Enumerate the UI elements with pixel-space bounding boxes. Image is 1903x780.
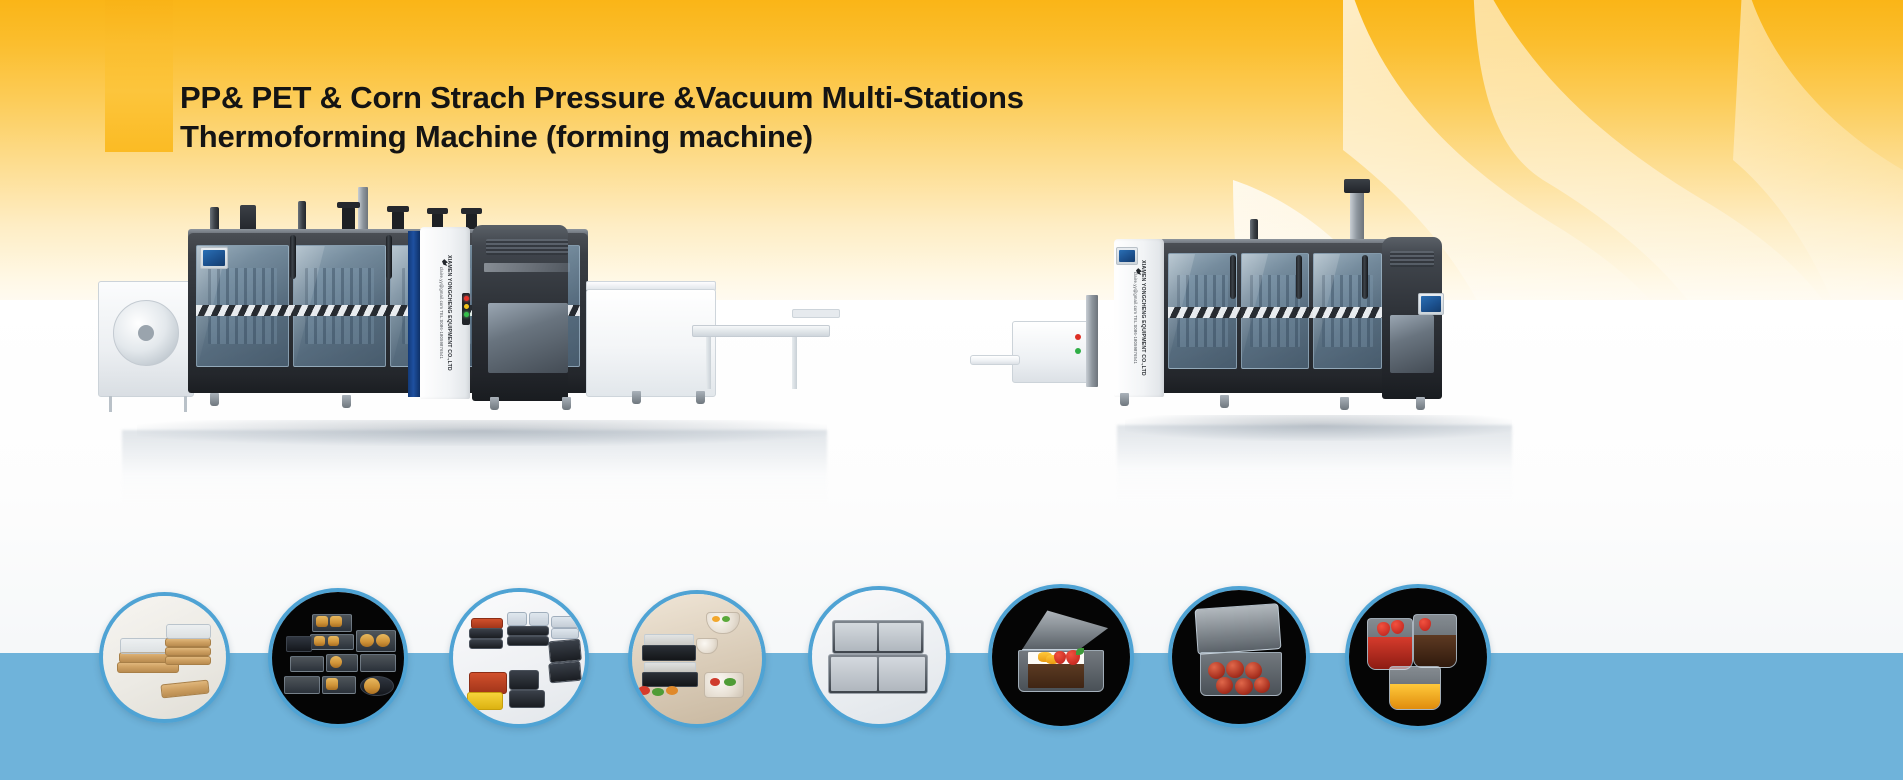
multi-station-thermoforming-machine-left: XIAMEN YONGCHENG EQUIPMENT CO.,LTD clair… [92, 185, 842, 430]
food-garnish [710, 678, 720, 686]
machine-floor-reflection [1117, 425, 1512, 503]
meal-tray [642, 672, 698, 687]
product-circle-bakery-pastry-trays[interactable] [268, 588, 408, 728]
black-clamshell [548, 661, 582, 684]
cup-contents-berry [1368, 637, 1412, 669]
product-circle-lychee-clamshell[interactable] [1168, 586, 1310, 728]
pastry-item [314, 636, 325, 646]
output-conveyor [692, 325, 830, 337]
pastry-item [326, 678, 338, 690]
pastry-tray [360, 654, 396, 672]
vertical-mast [1350, 185, 1364, 243]
conveyor-leg [706, 337, 711, 389]
machine-caster [1220, 395, 1229, 408]
brand-company-name: XIAMEN YONGCHENG EQUIPMENT CO.,LTD [1139, 260, 1146, 376]
food-garnish [652, 688, 664, 696]
indicator-light-yellow [464, 304, 469, 309]
product-circle-black-red-containers[interactable] [449, 588, 589, 728]
pastry-item [330, 616, 342, 627]
hmi-touch-panel-secondary[interactable] [1418, 293, 1444, 315]
indicator-light-tower [462, 293, 470, 325]
machine-brand-text: XIAMEN YONGCHENG EQUIPMENT CO.,LTD clair… [1132, 260, 1146, 376]
film-unwinder-unit [98, 281, 194, 397]
head-vent-grille [1390, 251, 1434, 267]
food-garnish [666, 686, 678, 695]
pastry-item [364, 678, 380, 694]
brand-contact-info: claire.yy@gmail.com TEL:0086-18059876541 [1132, 260, 1139, 376]
blue-structural-pillar [408, 231, 420, 397]
black-container [507, 636, 549, 646]
compartment-tray-upper [832, 620, 924, 654]
pastry-tray-dark [286, 636, 312, 652]
hazard-stripe-belt [1168, 307, 1382, 318]
pastry-tray [290, 656, 324, 672]
kraft-tray-lid [166, 624, 211, 639]
lychee-fruit [1254, 677, 1270, 693]
page-title: PP& PET & Corn Strach Pressure &Vacuum M… [180, 78, 1180, 156]
clamshell-lid [1194, 603, 1281, 655]
side-support-arm [970, 355, 1020, 365]
hmi-touch-panel[interactable] [1116, 247, 1138, 265]
compartment-tray-lower [828, 654, 928, 694]
product-circle-cake-clamshell[interactable] [988, 584, 1134, 730]
door-handle [290, 235, 296, 279]
pastry-item [328, 636, 339, 646]
top-motor-box [1344, 179, 1370, 193]
title-line-1: PP& PET & Corn Strach Pressure &Vacuum M… [180, 78, 1180, 117]
meal-tray [642, 645, 696, 661]
film-roll [113, 300, 179, 366]
door-handle [386, 235, 392, 279]
black-container [469, 628, 503, 639]
red-container [469, 672, 507, 694]
door-handle [1362, 255, 1368, 299]
machine-caster [490, 397, 499, 410]
machine-caster [1120, 393, 1129, 406]
product-circle-row [0, 600, 1903, 780]
black-container [509, 670, 539, 690]
indicator-light-red [464, 296, 469, 301]
brand-company-name: XIAMEN YONGCHENG EQUIPMENT CO.,LTD [445, 255, 452, 371]
head-inspection-window [1390, 315, 1434, 373]
food-garnish [712, 616, 720, 622]
vertical-mast [358, 187, 368, 233]
kraft-tray [165, 656, 211, 665]
dessert-cup-berry [1367, 618, 1413, 670]
machine-caster [1340, 397, 1349, 410]
product-stacker-unit [586, 289, 716, 397]
lychee-fruit [1216, 677, 1233, 694]
black-container [469, 639, 503, 649]
machine-caster [342, 395, 351, 408]
start-button[interactable] [1075, 348, 1081, 354]
brand-contact-info: claire.yy@gmail.com TEL:0086-18059876541 [438, 255, 445, 371]
tray-compartment [879, 657, 925, 691]
machine-caster [562, 397, 571, 410]
food-garnish [724, 678, 736, 686]
clear-container [551, 616, 579, 628]
pastry-item [316, 616, 328, 627]
black-container [507, 626, 549, 636]
conveyor-end-arm [792, 309, 840, 318]
machine-floor-reflection [122, 430, 827, 508]
machine-caster [696, 391, 705, 404]
pastry-item [360, 634, 374, 647]
feeder-legs [109, 396, 187, 412]
yellow-container [467, 692, 503, 710]
forming-head-module [1382, 237, 1442, 399]
head-model-label [484, 263, 570, 272]
tray-compartment [831, 657, 877, 691]
cup-contents-mango [1390, 684, 1440, 709]
food-garnish [638, 686, 650, 695]
clear-container [529, 612, 549, 626]
title-accent-bar [105, 0, 173, 152]
pastry-item [376, 634, 390, 647]
machine-caster [1416, 397, 1425, 410]
machine-caster [632, 391, 641, 404]
food-garnish [722, 616, 730, 622]
machine-caster [210, 393, 219, 406]
clear-container [551, 628, 579, 639]
black-clamshell [548, 639, 582, 664]
head-inspection-window [488, 303, 568, 373]
lychee-fruit [1235, 678, 1253, 695]
product-circle-meal-prep-trays[interactable] [628, 590, 766, 728]
tray-compartment [879, 623, 921, 651]
product-circle-dessert-fruit-cups[interactable] [1345, 584, 1491, 730]
kraft-tray [165, 647, 211, 656]
head-vent-grille [486, 239, 568, 255]
food-plate [704, 672, 744, 698]
emergency-stop-button[interactable] [1075, 334, 1081, 340]
product-banner: PP& PET & Corn Strach Pressure &Vacuum M… [0, 0, 1903, 780]
thermoforming-machine-right: XIAMEN YONGCHENG EQUIPMENT CO.,LTD clair… [1100, 195, 1520, 425]
dessert-cup-mango [1389, 666, 1441, 710]
title-line-2: Thermoforming Machine (forming machine) [180, 117, 1180, 156]
vertical-support-post [1086, 295, 1098, 387]
pastry-item [330, 656, 342, 668]
side-feeder-unit [1012, 321, 1092, 383]
conveyor-leg [792, 337, 797, 389]
door-handle [1230, 255, 1236, 299]
black-container [509, 690, 545, 708]
tray-compartment [835, 623, 877, 651]
kraft-tray [165, 638, 211, 647]
forming-head-module [472, 225, 568, 401]
pastry-tray [284, 676, 320, 694]
hmi-touch-panel[interactable] [200, 247, 228, 269]
indicator-light-green [464, 312, 469, 317]
product-circle-kraft-paper-trays[interactable] [99, 592, 230, 723]
product-circle-compartment-meal-trays[interactable] [808, 586, 950, 728]
door-handle [1296, 255, 1302, 299]
machine-brand-text: XIAMEN YONGCHENG EQUIPMENT CO.,LTD clair… [438, 255, 452, 371]
lychee-fruit [1226, 660, 1244, 678]
clear-container [507, 612, 527, 626]
cup-contents-chocolate [1414, 635, 1456, 667]
